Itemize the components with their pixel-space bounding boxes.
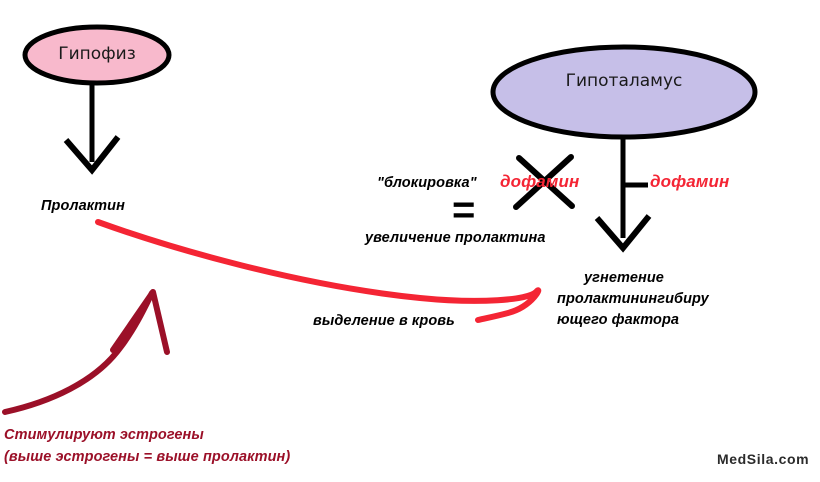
hypothalamus-label: Гипоталамус [493,71,755,91]
release-into-blood-label: выделение в кровь [313,313,455,329]
pituitary-label: Гипофиз [25,44,169,64]
dopamine-right-label: дофамин [650,172,729,192]
inhibition-line-1: угнетение [584,270,664,286]
estrogens-line-1: Стимулируют эстрогены [4,427,204,443]
prolactin-label: Пролактин [41,198,125,214]
estrogen-stimulation-arrow [5,292,167,412]
diagram-canvas: Гипофиз Гипоталамус Пролактин "блокировк… [0,0,820,482]
estrogens-line-2: (выше эстрогены = выше пролактин) [4,449,290,465]
dopamine-crossed-label: дофамин [500,172,579,192]
hypothalamus-down-arrow [597,136,649,248]
equals-sign: = [452,190,475,230]
hypothalamus-ellipse [493,47,755,137]
prolactin-increase-label: увеличение пролактина [365,230,545,246]
inhibition-line-2: пролактинингибиру [557,291,709,307]
site-watermark: MedSila.com [717,451,809,467]
pituitary-down-arrow [66,84,118,170]
inhibition-line-3: ющего фактора [557,312,679,328]
